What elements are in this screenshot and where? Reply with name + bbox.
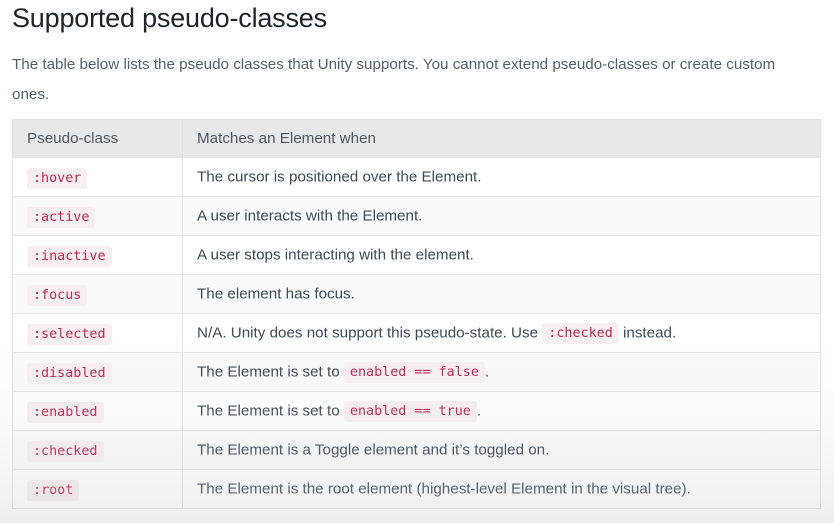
pseudo-class-code-chip: :focus bbox=[27, 285, 87, 306]
description-suffix: . bbox=[477, 403, 481, 420]
cell-pseudo-class: :hover bbox=[13, 158, 183, 197]
pseudo-class-code-chip: :root bbox=[27, 480, 79, 501]
inline-code-chip: enabled == true bbox=[344, 401, 477, 422]
pseudo-class-code-chip: :disabled bbox=[27, 363, 112, 384]
cell-pseudo-class: :enabled bbox=[13, 392, 183, 431]
cell-description: A user stops interacting with the elemen… bbox=[183, 236, 821, 275]
pseudo-class-code-chip: :active bbox=[27, 207, 95, 228]
cell-pseudo-class: :inactive bbox=[13, 236, 183, 275]
page-title: Supported pseudo-classes bbox=[0, 2, 327, 34]
table-body: :hoverThe cursor is positioned over the … bbox=[13, 158, 821, 509]
table-header-row: Pseudo-class Matches an Element when bbox=[13, 120, 821, 158]
description-text: A user interacts with the Element. bbox=[197, 208, 422, 225]
cell-description: The element has focus. bbox=[183, 275, 821, 314]
description-suffix: . bbox=[485, 364, 489, 381]
description-text: The element has focus. bbox=[197, 286, 355, 303]
pseudo-class-table-container: Pseudo-class Matches an Element when :ho… bbox=[12, 119, 820, 509]
intro-paragraph: The table below lists the pseudo classes… bbox=[12, 50, 798, 110]
table-row: :enabledThe Element is set to enabled ==… bbox=[13, 392, 821, 431]
cell-pseudo-class: :disabled bbox=[13, 353, 183, 392]
description-text: The Element is set to bbox=[197, 403, 344, 420]
table-row: :activeA user interacts with the Element… bbox=[13, 197, 821, 236]
table-row: :hoverThe cursor is positioned over the … bbox=[13, 158, 821, 197]
description-text: The Element is a Toggle element and it’s… bbox=[197, 442, 549, 459]
table-header: Pseudo-class Matches an Element when bbox=[13, 120, 821, 158]
cell-description: The Element is set to enabled == false. bbox=[183, 353, 821, 392]
pseudo-class-code-chip: :selected bbox=[27, 324, 112, 345]
column-header-pseudo-class: Pseudo-class bbox=[13, 120, 183, 158]
cell-pseudo-class: :selected bbox=[13, 314, 183, 353]
pseudo-class-code-chip: :inactive bbox=[27, 246, 112, 267]
cell-description: The cursor is positioned over the Elemen… bbox=[183, 158, 821, 197]
pseudo-class-code-chip: :checked bbox=[27, 441, 104, 462]
cell-pseudo-class: :active bbox=[13, 197, 183, 236]
cell-pseudo-class: :checked bbox=[13, 431, 183, 470]
cell-pseudo-class: :focus bbox=[13, 275, 183, 314]
pseudo-class-code-chip: :hover bbox=[27, 168, 87, 189]
table-row: :rootThe Element is the root element (hi… bbox=[13, 470, 821, 509]
table-row: :selectedN/A. Unity does not support thi… bbox=[13, 314, 821, 353]
table-row: :disabledThe Element is set to enabled =… bbox=[13, 353, 821, 392]
cell-description: N/A. Unity does not support this pseudo-… bbox=[183, 314, 821, 353]
inline-code-chip: enabled == false bbox=[344, 362, 485, 383]
cell-description: The Element is a Toggle element and it’s… bbox=[183, 431, 821, 470]
description-text: The Element is the root element (highest… bbox=[197, 481, 691, 498]
cell-description: A user interacts with the Element. bbox=[183, 197, 821, 236]
cell-description: The Element is set to enabled == true. bbox=[183, 392, 821, 431]
cell-description: The Element is the root element (highest… bbox=[183, 470, 821, 509]
cell-pseudo-class: :root bbox=[13, 470, 183, 509]
description-suffix: instead. bbox=[619, 325, 676, 342]
column-header-matches: Matches an Element when bbox=[183, 120, 821, 158]
table-row: :inactiveA user stops interacting with t… bbox=[13, 236, 821, 275]
inline-code-chip: :checked bbox=[542, 323, 619, 344]
description-text: The cursor is positioned over the Elemen… bbox=[197, 169, 481, 186]
table-row: :focusThe element has focus. bbox=[13, 275, 821, 314]
description-text: The Element is set to bbox=[197, 364, 344, 381]
description-text: A user stops interacting with the elemen… bbox=[197, 247, 474, 264]
document-page: Supported pseudo-classes The table below… bbox=[0, 0, 834, 523]
pseudo-class-code-chip: :enabled bbox=[27, 402, 104, 423]
table-row: :checkedThe Element is a Toggle element … bbox=[13, 431, 821, 470]
description-text: N/A. Unity does not support this pseudo-… bbox=[197, 325, 542, 342]
pseudo-class-table: Pseudo-class Matches an Element when :ho… bbox=[12, 119, 821, 509]
